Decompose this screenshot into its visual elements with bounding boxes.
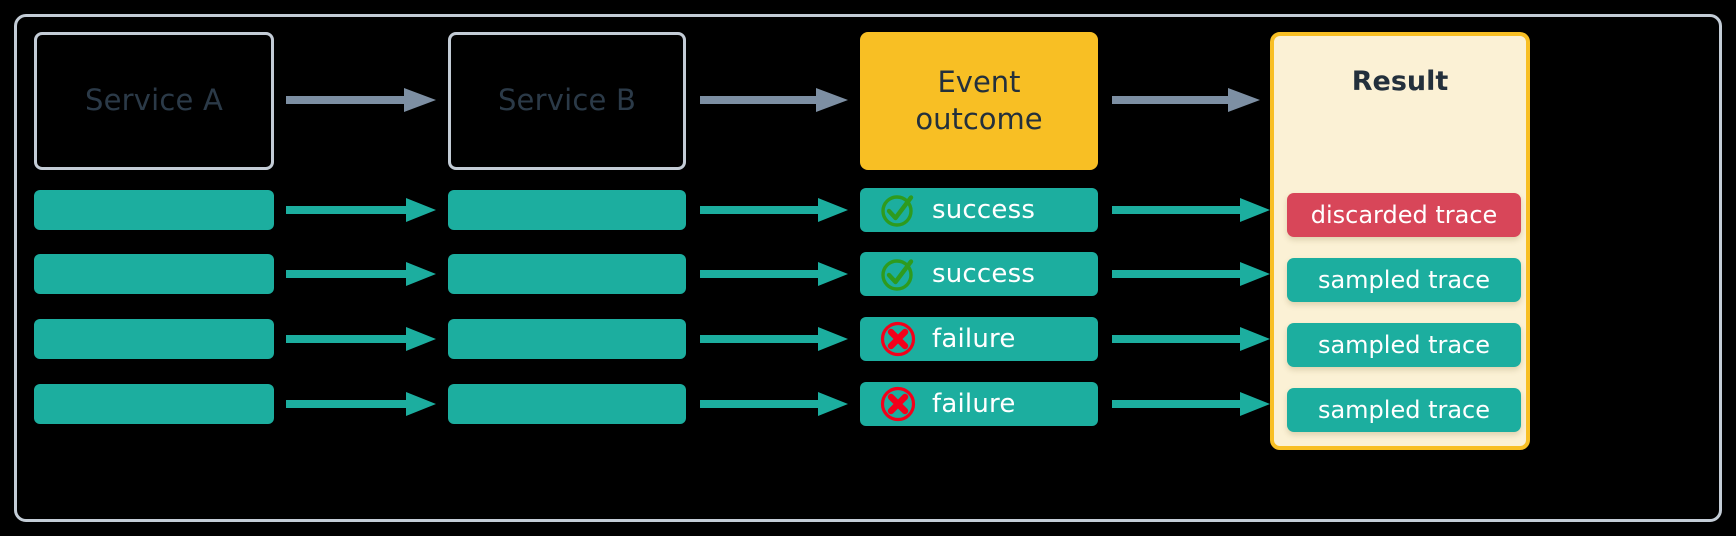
outcome-label: success	[932, 259, 1035, 289]
row-arrow-b-to-event-row-3	[700, 326, 848, 352]
span-bar-service-b-row-1	[448, 190, 686, 230]
outcome-pill-row-4: failure	[860, 382, 1098, 426]
outcome-label: failure	[932, 389, 1016, 419]
span-bar-service-b-row-4	[448, 384, 686, 424]
header-arrow-event-to-result	[1112, 86, 1260, 114]
span-bar-service-a-row-2	[34, 254, 274, 294]
check-circle-icon	[878, 190, 918, 230]
result-pill-row-3: sampled trace	[1287, 323, 1521, 367]
row-arrow-event-to-result-row-2	[1112, 261, 1270, 287]
result-title: Result	[1274, 66, 1526, 97]
result-pill-row-1: discarded trace	[1287, 193, 1521, 237]
check-circle-icon	[878, 254, 918, 294]
outcome-label: success	[932, 195, 1035, 225]
result-pill-label: sampled trace	[1318, 331, 1490, 359]
result-pill-label: sampled trace	[1318, 266, 1490, 294]
service-a-label: Service A	[85, 82, 223, 119]
row-arrow-event-to-result-row-1	[1112, 197, 1270, 223]
outcome-pill-row-2: success	[860, 252, 1098, 296]
row-arrow-a-to-b-row-1	[286, 197, 436, 223]
service-b-label: Service B	[498, 82, 636, 119]
row-arrow-a-to-b-row-2	[286, 261, 436, 287]
event-outcome-label: Event outcome	[915, 64, 1042, 138]
outcome-pill-row-3: failure	[860, 317, 1098, 361]
result-pill-label: sampled trace	[1318, 396, 1490, 424]
event-outcome-box: Event outcome	[860, 32, 1098, 170]
x-circle-icon	[878, 384, 918, 424]
row-arrow-a-to-b-row-3	[286, 326, 436, 352]
row-arrow-b-to-event-row-4	[700, 391, 848, 417]
row-arrow-event-to-result-row-3	[1112, 326, 1270, 352]
event-outcome-label-line2: outcome	[915, 101, 1042, 138]
service-b-box: Service B	[448, 32, 686, 170]
result-pill-label: discarded trace	[1311, 201, 1498, 229]
outcome-pill-row-1: success	[860, 188, 1098, 232]
result-pill-row-2: sampled trace	[1287, 258, 1521, 302]
header-arrow-b-to-event	[700, 86, 848, 114]
diagram-canvas: Service A Service B Event outcome Result…	[0, 0, 1736, 536]
outcome-label: failure	[932, 324, 1016, 354]
row-arrow-b-to-event-row-2	[700, 261, 848, 287]
result-pill-row-4: sampled trace	[1287, 388, 1521, 432]
row-arrow-a-to-b-row-4	[286, 391, 436, 417]
span-bar-service-a-row-4	[34, 384, 274, 424]
row-arrow-b-to-event-row-1	[700, 197, 848, 223]
x-circle-icon	[878, 319, 918, 359]
row-arrow-event-to-result-row-4	[1112, 391, 1270, 417]
span-bar-service-b-row-3	[448, 319, 686, 359]
span-bar-service-b-row-2	[448, 254, 686, 294]
service-a-box: Service A	[34, 32, 274, 170]
header-arrow-a-to-b	[286, 86, 436, 114]
span-bar-service-a-row-1	[34, 190, 274, 230]
event-outcome-label-line1: Event	[915, 64, 1042, 101]
span-bar-service-a-row-3	[34, 319, 274, 359]
result-panel: Result discarded trace sampled trace sam…	[1270, 32, 1530, 450]
